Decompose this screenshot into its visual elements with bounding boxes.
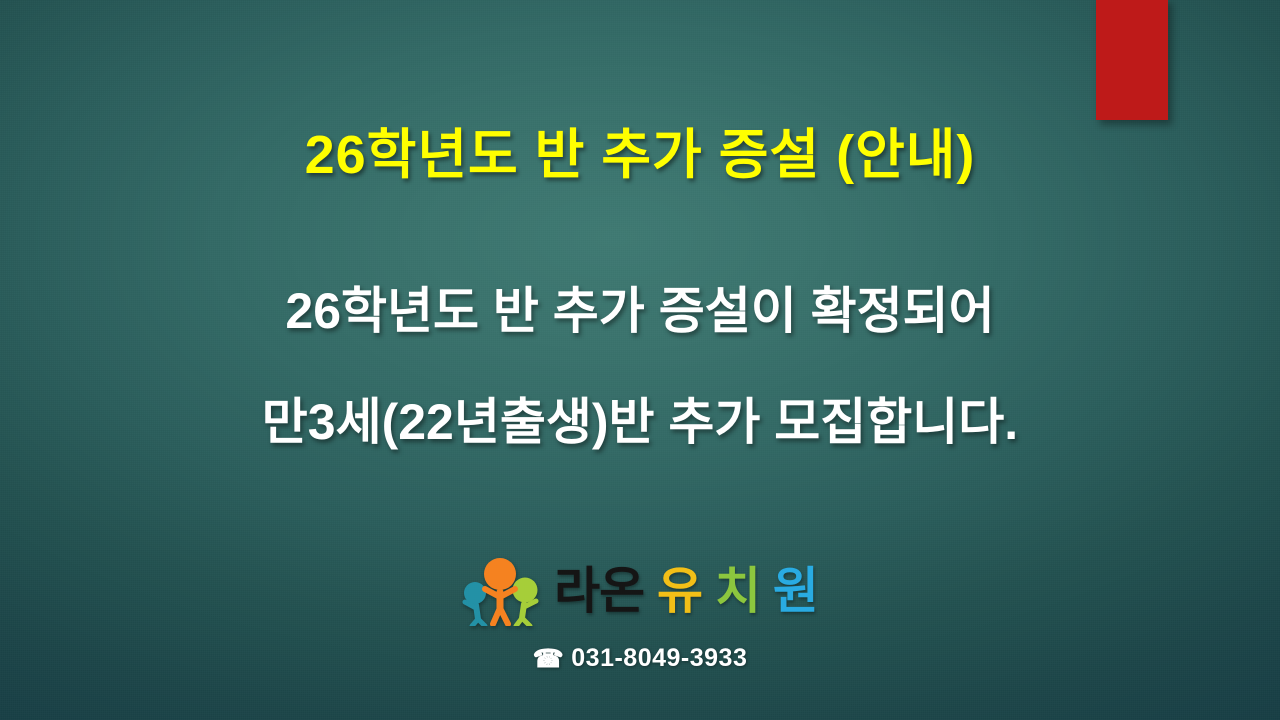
logo-word-part-yu: 유 bbox=[657, 563, 702, 619]
slide-body-text: 26학년도 반 추가 증설이 확정되어 만3세(22년출생)반 추가 모집합니다… bbox=[0, 286, 1280, 447]
kindergarten-logo: 라온 유 치 원 bbox=[0, 556, 1280, 626]
logo-word-part-chi: 치 bbox=[715, 563, 760, 619]
body-line-1: 26학년도 반 추가 증설이 확정되어 bbox=[0, 286, 1280, 336]
phone-number-text: 031-8049-3933 bbox=[571, 644, 747, 672]
contact-phone: ☎031-8049-3933 bbox=[0, 644, 1280, 673]
body-line-2: 만3세(22년출생)반 추가 모집합니다. bbox=[0, 397, 1280, 447]
red-accent-bar bbox=[1096, 0, 1168, 120]
three-children-logo-icon bbox=[462, 556, 540, 626]
slide-title: 26학년도 반 추가 증설 (안내) bbox=[0, 124, 1280, 186]
telephone-icon: ☎ bbox=[533, 647, 565, 672]
logo-word-part-raon: 라온 bbox=[554, 563, 644, 619]
logo-wordmark: 라온 유 치 원 bbox=[554, 566, 818, 616]
presentation-slide: 26학년도 반 추가 증설 (안내) 26학년도 반 추가 증설이 확정되어 만… bbox=[0, 0, 1280, 720]
logo-word-part-won: 원 bbox=[773, 563, 818, 619]
